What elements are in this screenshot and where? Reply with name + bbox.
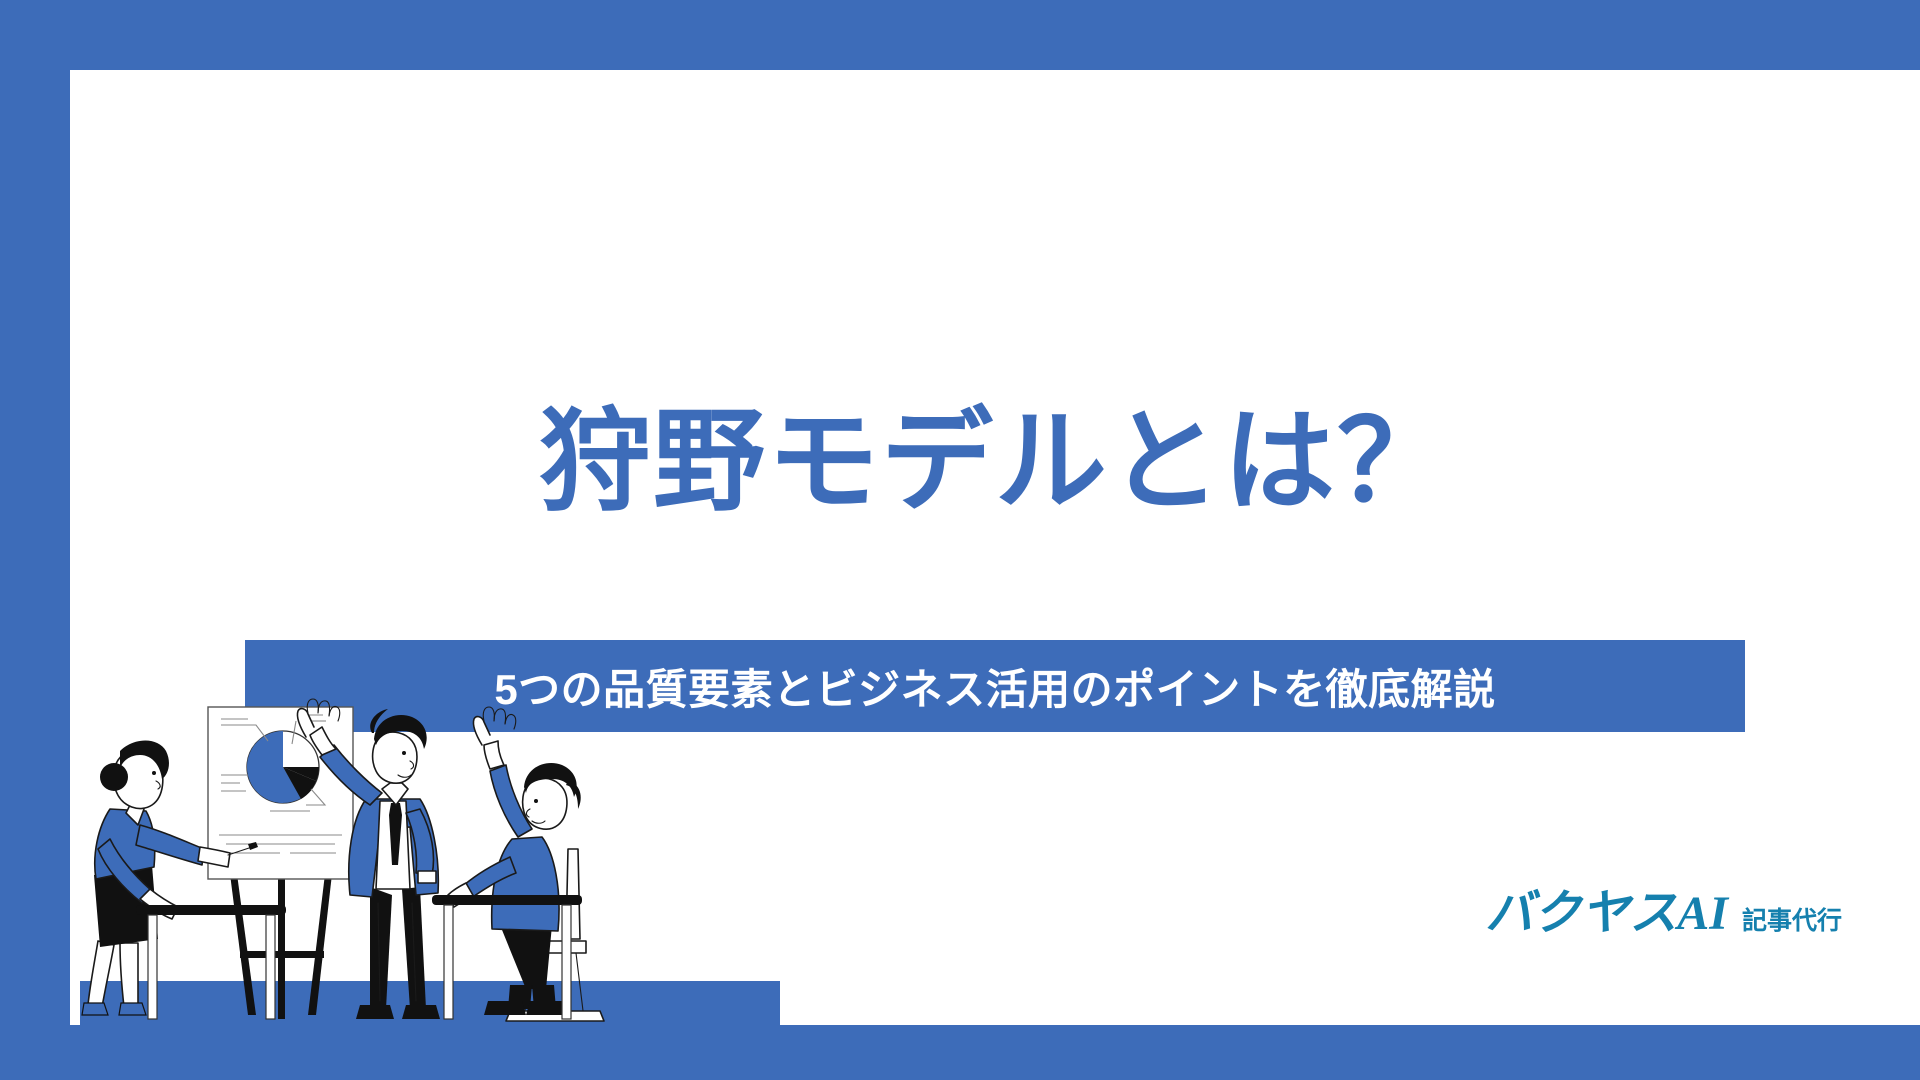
brand-logo-main: バクヤスAI [1485, 873, 1728, 943]
hand-raised-right [473, 707, 515, 745]
brand-logo: バクヤスAI 記事代行 [1485, 873, 1842, 943]
slide-root: 狩野モデルとは？ 5つの品質要素とビジネス活用のポイントを徹底解説 バクヤスAI… [0, 0, 1920, 1080]
figure-seated-person [448, 707, 604, 1021]
illustration-svg: .ln{fill:none;stroke:#1a1a1a;stroke-widt… [80, 689, 780, 1025]
brand-logo-sub: 記事代行 [1742, 901, 1842, 937]
illustration: .ln{fill:none;stroke:#1a1a1a;stroke-widt… [80, 689, 780, 1025]
content-panel: 狩野モデルとは？ 5つの品質要素とビジネス活用のポイントを徹底解説 バクヤスAI… [70, 70, 1920, 1025]
page-title: 狩野モデルとは？ [70, 400, 1920, 523]
